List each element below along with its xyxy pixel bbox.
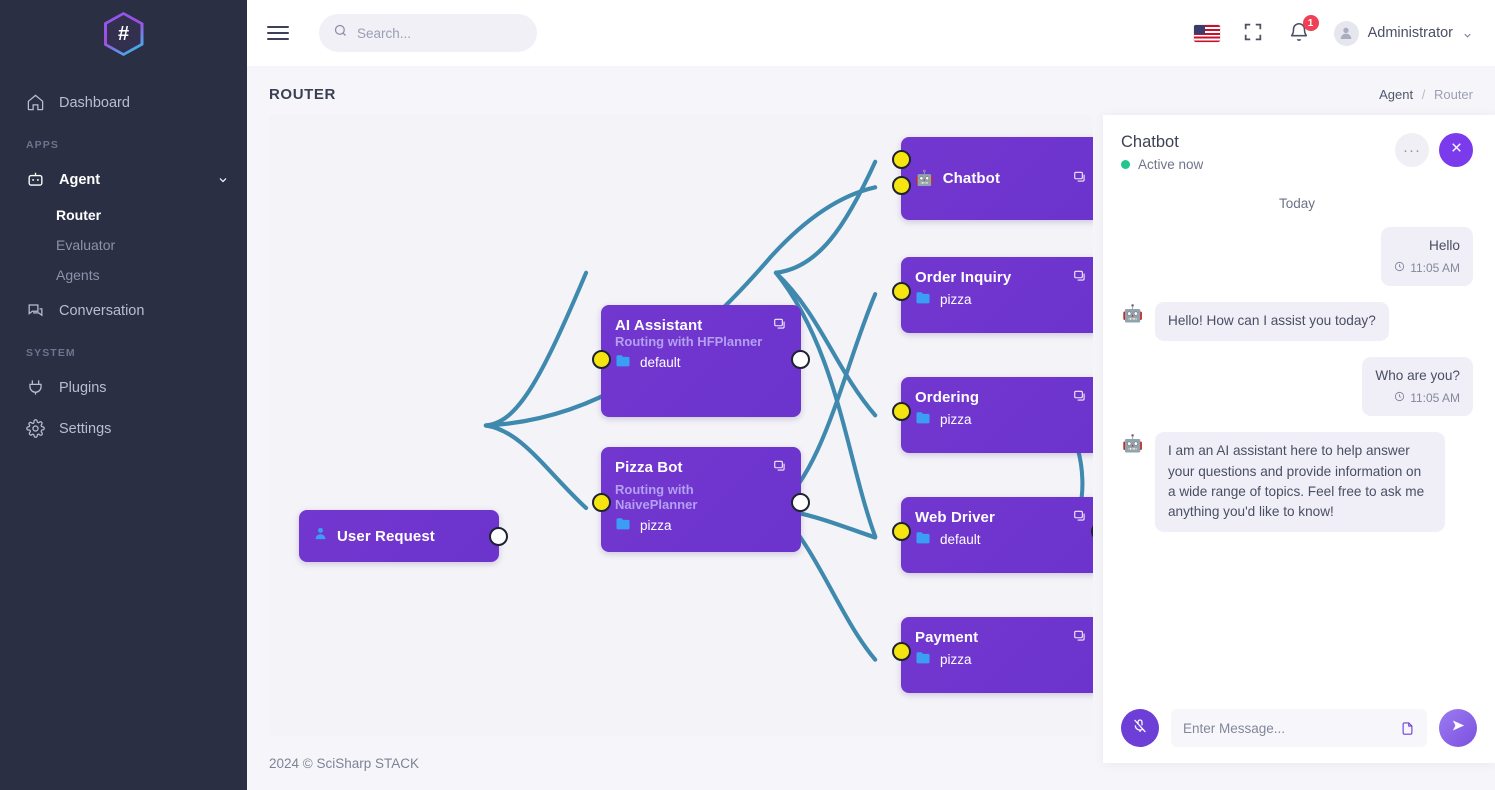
bot-avatar-icon: 🤖 xyxy=(1121,432,1145,456)
breadcrumb: Agent / Router xyxy=(1379,87,1473,102)
bell-icon[interactable]: 1 xyxy=(1288,21,1312,45)
breadcrumb-separator: / xyxy=(1422,87,1426,102)
home-icon xyxy=(26,93,45,112)
chat-message-outgoing: Who are you? 11:05 AM xyxy=(1121,357,1473,416)
sidebar-nav: Dashboard APPS Agent Router Evaluator Ag… xyxy=(0,68,247,449)
node-port-in[interactable] xyxy=(892,282,911,301)
content-area: User Request AI Assistant Routing with H… xyxy=(247,115,1495,736)
folder-icon xyxy=(615,517,631,533)
sidebar-item-settings[interactable]: Settings xyxy=(0,408,247,449)
chevron-down-icon xyxy=(1462,28,1473,39)
close-chat-button[interactable] xyxy=(1439,133,1473,167)
sidebar-section-apps: APPS xyxy=(0,123,247,159)
clock-icon xyxy=(1394,389,1405,407)
chat-day-label: Today xyxy=(1121,196,1473,211)
chat-header-actions: ··· xyxy=(1395,133,1473,167)
folder-icon xyxy=(915,651,931,667)
node-port-in[interactable] xyxy=(892,402,911,421)
node-title: Order Inquiry xyxy=(915,269,1087,286)
file-icon[interactable] xyxy=(1400,721,1415,736)
fullscreen-icon[interactable] xyxy=(1242,21,1266,45)
app-logo[interactable]: # xyxy=(0,0,247,68)
sidebar-item-label: Dashboard xyxy=(59,95,130,111)
page-header: ROUTER Agent / Router xyxy=(247,66,1495,115)
node-folder: pizza xyxy=(915,411,1087,427)
message-time: 11:05 AM xyxy=(1410,259,1460,277)
node-port-out[interactable] xyxy=(489,527,508,546)
node-folder-label: default xyxy=(940,532,981,547)
node-folder: pizza xyxy=(615,517,787,533)
search-box[interactable] xyxy=(319,14,537,52)
message-text: Who are you? xyxy=(1375,366,1460,386)
chat-message-incoming: 🤖 I am an AI assistant here to help answ… xyxy=(1121,432,1473,532)
page-title: ROUTER xyxy=(269,86,336,103)
message-time: 11:05 AM xyxy=(1410,389,1460,407)
node-folder-label: pizza xyxy=(640,518,672,533)
footer-text: 2024 © SciSharp STACK xyxy=(269,756,419,771)
message-text: Hello xyxy=(1394,236,1460,256)
chat-messages: Today Hello 11:05 AM xyxy=(1103,182,1495,695)
breadcrumb-parent[interactable]: Agent xyxy=(1379,87,1413,102)
chat-message-outgoing: Hello 11:05 AM xyxy=(1121,227,1473,286)
node-port-in[interactable] xyxy=(592,350,611,369)
sidebar-item-plugins[interactable]: Plugins xyxy=(0,367,247,408)
sidebar-item-dashboard[interactable]: Dashboard xyxy=(0,82,247,123)
node-port-in-secondary[interactable] xyxy=(892,176,911,195)
node-folder-label: default xyxy=(640,355,681,370)
main-area: 1 Administrator ROUTER Agent / Router xyxy=(247,0,1495,790)
user-name: Administrator xyxy=(1368,25,1453,41)
graph-node-user-request[interactable]: User Request xyxy=(299,510,499,562)
sidebar: # Dashboard APPS Agent Router xyxy=(0,0,247,790)
send-button[interactable] xyxy=(1439,709,1477,747)
graph-node-ordering[interactable]: Ordering pizza xyxy=(901,377,1093,453)
folder-icon xyxy=(615,354,631,370)
hamburger-icon[interactable] xyxy=(267,26,289,40)
sidebar-section-system: SYSTEM xyxy=(0,331,247,367)
node-title: AI Assistant xyxy=(615,317,787,334)
folder-icon xyxy=(915,411,931,427)
chat-message-incoming: 🤖 Hello! How can I assist you today? xyxy=(1121,302,1473,340)
node-port-in[interactable] xyxy=(592,493,611,512)
mic-muted-icon xyxy=(1132,718,1148,739)
node-title: Web Driver xyxy=(915,509,1087,526)
chat-header: Chatbot Active now ··· xyxy=(1103,115,1495,182)
search-icon xyxy=(333,23,348,43)
send-icon xyxy=(1451,718,1466,738)
chat-icon xyxy=(26,301,45,320)
copy-icon[interactable] xyxy=(773,459,787,478)
copy-icon[interactable] xyxy=(1073,509,1087,528)
copy-icon[interactable] xyxy=(1073,629,1087,648)
logo-hash-glyph: # xyxy=(118,24,129,44)
node-port-in[interactable] xyxy=(892,522,911,541)
node-folder-label: pizza xyxy=(940,652,972,667)
message-timestamp: 11:05 AM xyxy=(1375,389,1460,407)
chat-title: Chatbot xyxy=(1121,133,1203,152)
node-folder: pizza xyxy=(915,651,1087,667)
node-folder: default xyxy=(615,354,787,370)
graph-node-chatbot[interactable]: 🤖 Chatbot xyxy=(901,137,1093,220)
router-graph-canvas[interactable]: User Request AI Assistant Routing with H… xyxy=(269,115,1093,736)
copy-icon[interactable] xyxy=(773,317,787,336)
graph-node-pizza-bot[interactable]: Pizza Bot Routing with NaivePlanner pizz… xyxy=(601,447,801,552)
message-text: Hello! How can I assist you today? xyxy=(1168,313,1376,328)
node-port-out[interactable] xyxy=(1091,522,1093,541)
chat-status-label: Active now xyxy=(1138,157,1203,172)
copy-icon[interactable] xyxy=(1073,389,1087,408)
user-menu[interactable]: Administrator xyxy=(1334,21,1473,46)
node-title: User Request xyxy=(337,528,435,545)
sidebar-item-label: Conversation xyxy=(59,303,144,319)
folder-icon xyxy=(915,531,931,547)
sidebar-item-agent[interactable]: Agent xyxy=(0,159,247,200)
bot-avatar-icon: 🤖 xyxy=(1121,302,1145,326)
sidebar-item-evaluator[interactable]: Evaluator xyxy=(0,230,247,260)
node-folder-label: pizza xyxy=(940,412,972,427)
folder-icon xyxy=(915,291,931,307)
close-icon xyxy=(1450,141,1463,159)
app-root: # Dashboard APPS Agent Router xyxy=(0,0,1495,790)
robot-icon xyxy=(26,170,45,189)
copy-icon[interactable] xyxy=(1073,170,1087,189)
node-title: Ordering xyxy=(915,389,1087,406)
mic-muted-button[interactable] xyxy=(1121,709,1159,747)
message-bubble: I am an AI assistant here to help answer… xyxy=(1155,432,1445,532)
status-dot-icon xyxy=(1121,160,1130,169)
sidebar-item-label: Settings xyxy=(59,421,111,437)
graph-node-payment[interactable]: Payment pizza xyxy=(901,617,1093,693)
graph-node-order-inquiry[interactable]: Order Inquiry pizza xyxy=(901,257,1093,333)
user-icon xyxy=(313,526,328,546)
node-folder: default xyxy=(915,531,1087,547)
node-folder-label: pizza xyxy=(940,292,972,307)
chevron-down-icon xyxy=(217,174,229,186)
gear-icon xyxy=(26,419,45,438)
message-input-box[interactable] xyxy=(1171,709,1427,747)
node-title: Chatbot xyxy=(943,170,1000,187)
chat-status: Active now xyxy=(1121,157,1203,172)
avatar xyxy=(1334,21,1359,46)
robot-emoji-icon: 🤖 xyxy=(915,171,934,186)
notification-badge: 1 xyxy=(1303,15,1319,31)
sidebar-item-label: Plugins xyxy=(59,380,107,396)
clock-icon xyxy=(1394,259,1405,277)
top-bar-actions: 1 Administrator xyxy=(1194,21,1473,46)
sidebar-item-label: Agent xyxy=(59,172,100,188)
node-port-in[interactable] xyxy=(892,642,911,661)
node-port-in[interactable] xyxy=(892,150,911,169)
chat-panel: Chatbot Active now ··· xyxy=(1103,115,1495,763)
graph-node-web-driver[interactable]: Web Driver default xyxy=(901,497,1093,573)
sidebar-item-agents[interactable]: Agents xyxy=(0,260,247,290)
graph-node-ai-assistant[interactable]: AI Assistant Routing with HFPlanner defa… xyxy=(601,305,801,417)
node-folder: pizza xyxy=(915,291,1087,307)
node-port-out[interactable] xyxy=(791,350,810,369)
sidebar-item-conversation[interactable]: Conversation xyxy=(0,290,247,331)
node-title: Payment xyxy=(915,629,1087,646)
node-port-out[interactable] xyxy=(791,493,810,512)
message-input[interactable] xyxy=(1183,721,1392,736)
copy-icon[interactable] xyxy=(1073,269,1087,288)
plug-icon xyxy=(26,378,45,397)
us-flag-icon[interactable] xyxy=(1194,25,1220,42)
breadcrumb-current: Router xyxy=(1434,87,1473,102)
node-subtitle: Routing with NaivePlanner xyxy=(615,482,765,512)
search-input[interactable] xyxy=(357,26,523,41)
node-title: Pizza Bot xyxy=(615,459,683,476)
top-bar: 1 Administrator xyxy=(247,0,1495,66)
message-bubble: Who are you? 11:05 AM xyxy=(1362,357,1473,416)
message-bubble: Hello! How can I assist you today? xyxy=(1155,302,1389,340)
message-timestamp: 11:05 AM xyxy=(1394,259,1460,277)
hexagon-logo-icon: # xyxy=(104,12,144,56)
more-options-button[interactable]: ··· xyxy=(1395,133,1429,167)
message-text: I am an AI assistant here to help answer… xyxy=(1168,443,1424,519)
sidebar-item-router[interactable]: Router xyxy=(0,200,247,230)
chat-input-bar xyxy=(1103,695,1495,763)
message-bubble: Hello 11:05 AM xyxy=(1381,227,1473,286)
node-subtitle: Routing with HFPlanner xyxy=(615,334,787,349)
